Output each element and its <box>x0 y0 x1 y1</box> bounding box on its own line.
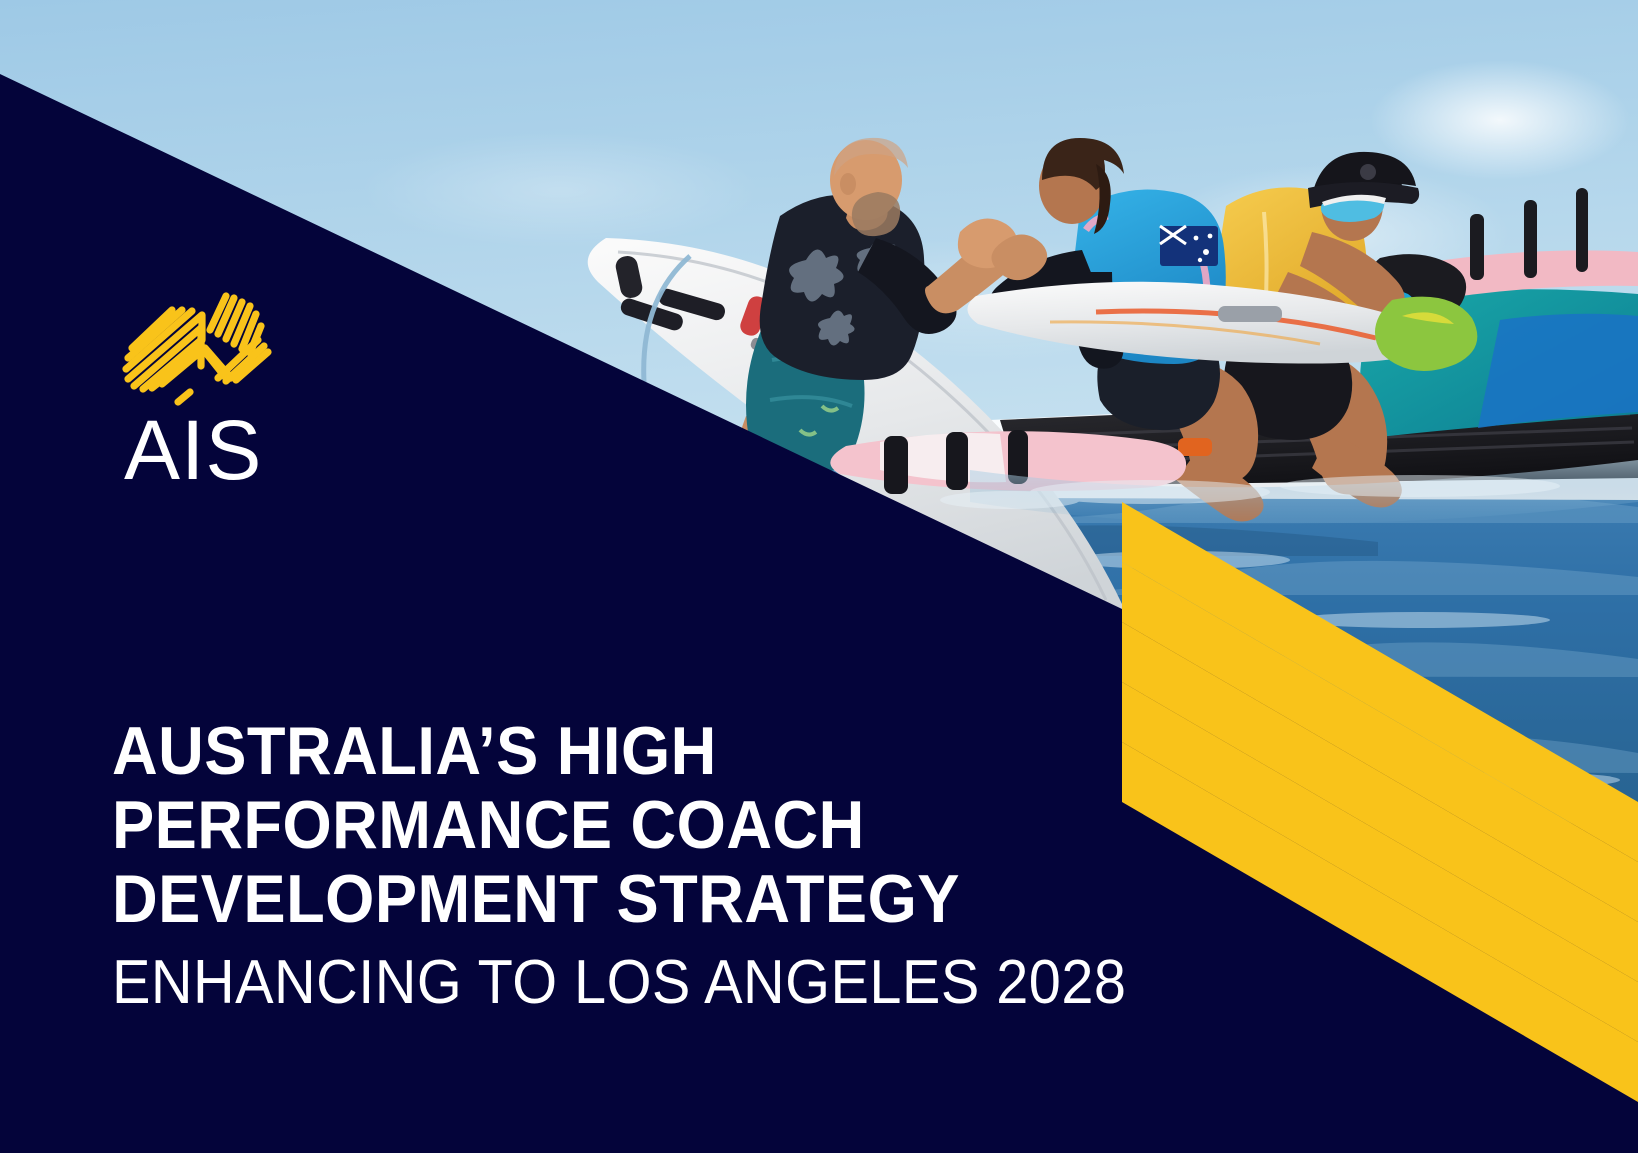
title-block: AUSTRALIA’S HIGH PERFORMANCE COACH DEVEL… <box>112 714 1292 1016</box>
australia-map-stripes-icon <box>106 282 291 412</box>
cover-page: AIS AUSTRALIA’S HIGH PERFORMANCE COACH D… <box>0 0 1638 1153</box>
title-line-2: PERFORMANCE COACH <box>112 788 1209 862</box>
subtitle: ENHANCING TO LOS ANGELES 2028 <box>112 950 1209 1016</box>
title-line-3: DEVELOPMENT STRATEGY <box>112 862 1209 936</box>
ais-wordmark: AIS <box>124 408 262 492</box>
title-line-1: AUSTRALIA’S HIGH <box>112 714 1209 788</box>
ais-logo: AIS <box>106 282 306 492</box>
